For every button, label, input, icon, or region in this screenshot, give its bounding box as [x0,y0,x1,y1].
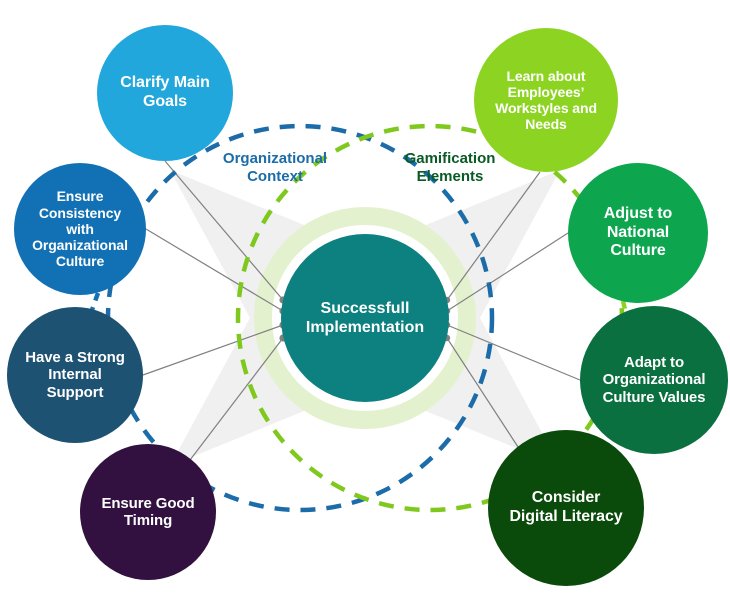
node-label-adapt-to-organizational-culture-values: Adapt to Organizational Culture Values [599,354,710,406]
node-label-adjust-to-national-culture: Adjust to National Culture [600,205,676,261]
node-ensure-consistency-with-organizational-culture[interactable]: Ensure Consistency with Organizational C… [14,163,146,295]
node-label-learn-about-employees: Learn about Employees’ Workstyles and Ne… [491,68,601,133]
node-consider-digital-literacy[interactable]: Consider Digital Literacy [488,430,644,586]
node-label-ensure-consistency: Ensure Consistency with Organizational C… [28,188,132,269]
node-ensure-good-timing[interactable]: Ensure Good Timing [80,444,216,580]
node-label-consider-digital-literacy: Consider Digital Literacy [505,489,626,526]
ring-label-organizational-context: Organizational Context [200,150,350,186]
node-learn-about-employees-workstyles-and-needs[interactable]: Learn about Employees’ Workstyles and Ne… [474,28,618,172]
node-adapt-to-organizational-culture-values[interactable]: Adapt to Organizational Culture Values [580,306,728,454]
node-label-ensure-good-timing: Ensure Good Timing [97,495,198,530]
center-node-label: Successfull Implementation [302,299,428,337]
node-have-a-strong-internal-support[interactable]: Have a Strong Internal Support [7,307,143,443]
ring-label-gamification-elements: Gamification Elements [385,150,515,186]
node-label-have-a-strong-internal-support: Have a Strong Internal Support [21,349,129,401]
diagram-canvas: Successfull Implementation Organizationa… [0,0,730,593]
center-node-successful-implementation[interactable]: Successfull Implementation [281,234,449,402]
node-label-clarify-main-goals: Clarify Main Goals [116,74,214,111]
node-adjust-to-national-culture[interactable]: Adjust to National Culture [568,163,708,303]
node-clarify-main-goals[interactable]: Clarify Main Goals [97,25,233,161]
